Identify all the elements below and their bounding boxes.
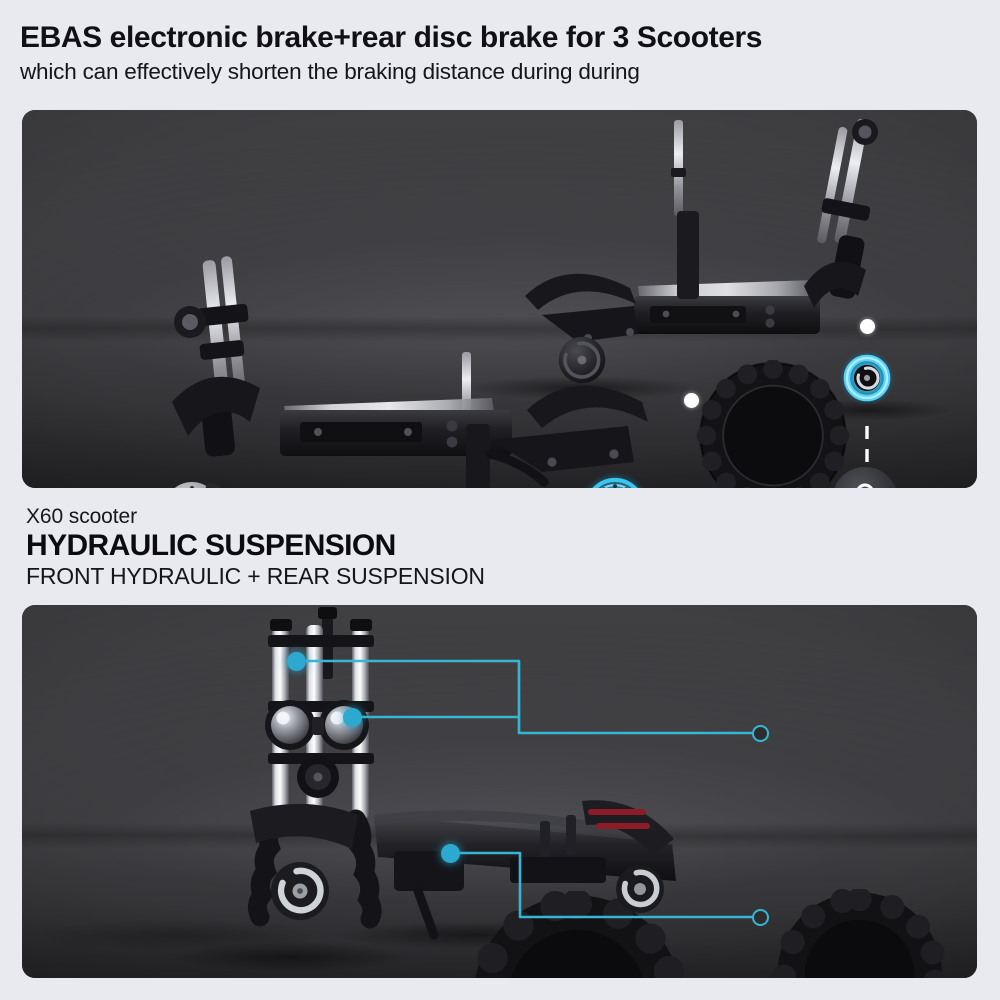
callout-node-inset-fork <box>752 725 769 742</box>
callout-dot-upper-wheel <box>860 319 875 334</box>
suspension-scooter-illustration <box>22 605 977 978</box>
callout-node-inset-rear <box>752 909 769 926</box>
suspension-caption: FRONT HYDRAULIC + REAR SUSPENSION <box>26 564 986 590</box>
suspension-title: HYDRAULIC SUSPENSION <box>26 529 986 563</box>
suspension-image-panel <box>22 605 977 978</box>
callout-dot-lower-wheel <box>684 393 699 408</box>
scooter-three-quarter <box>250 607 947 978</box>
brake-image-panel <box>22 110 977 488</box>
brake-scooters-illustration <box>22 110 977 488</box>
model-label: X60 scooter <box>26 505 986 528</box>
page-title: EBAS electronic brake+rear disc brake fo… <box>20 22 980 54</box>
suspension-heading-block: X60 scooter HYDRAULIC SUSPENSION FRONT H… <box>26 505 986 589</box>
callout-node-fork-lower <box>343 708 362 727</box>
scooter-upper <box>464 118 977 488</box>
callout-node-fork-top <box>287 652 306 671</box>
brake-heading-block: EBAS electronic brake+rear disc brake fo… <box>20 22 980 86</box>
callout-node-rear-shock <box>441 844 460 863</box>
lock-icon <box>848 482 882 488</box>
page-subtitle: which can effectively shorten the brakin… <box>20 58 980 85</box>
